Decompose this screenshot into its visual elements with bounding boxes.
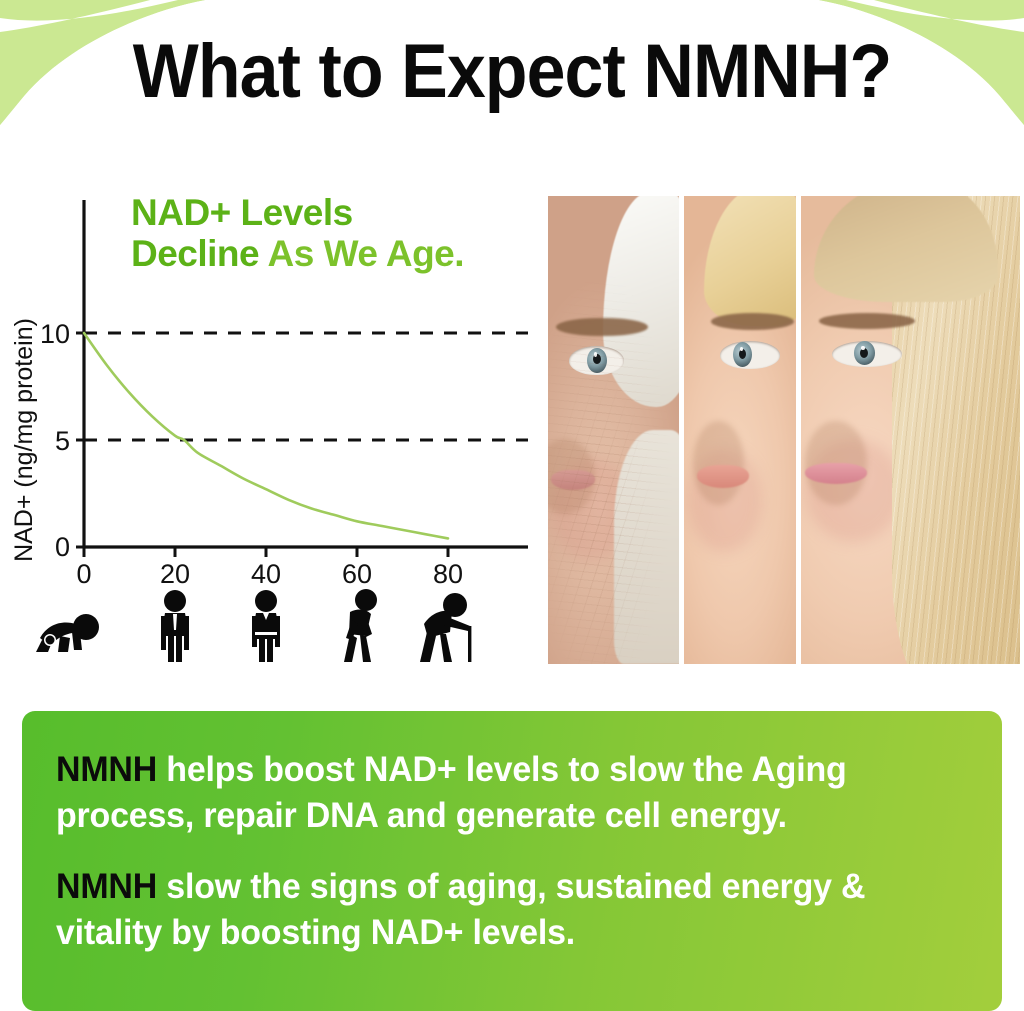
callout-paragraph-1: NMNH helps boost NAD+ levels to slow the… <box>56 747 941 838</box>
elderly-woman-face-panel <box>548 196 679 664</box>
young-adult-figure <box>161 590 189 662</box>
chart-headline-line1: NAD+ Levels <box>131 192 353 233</box>
benefits-callout: NMNH helps boost NAD+ levels to slow the… <box>22 711 1002 1011</box>
callout-paragraph-2: NMNH slow the signs of aging, sustained … <box>56 864 941 955</box>
callout-text-1: helps boost NAD+ levels to slow the Agin… <box>56 750 847 835</box>
chart-headline: NAD+ Levels Decline As We Age. <box>131 193 531 274</box>
y-tick-label-5: 5 <box>55 426 70 456</box>
hunched-elderly-figure <box>344 589 377 662</box>
middle-aged-woman-face-panel <box>684 196 796 664</box>
y-axis-title: NAD+ (ng/mg protein) <box>10 318 38 562</box>
page-title: What to Expect NMNH? <box>41 28 983 115</box>
nad-decline-chart: NAD+ Levels Decline As We Age. 0 5 10 NA… <box>0 185 540 670</box>
nad-decay-curve <box>84 333 448 538</box>
stooped-elderly-with-cane-figure <box>420 593 471 662</box>
y-tick-label-10: 10 <box>40 319 70 349</box>
y-tick-label-0: 0 <box>55 532 70 562</box>
crawling-baby-figure <box>36 614 99 652</box>
aging-pictogram-row <box>0 580 540 665</box>
brand-name-2: NMNH <box>56 867 157 906</box>
middle-aged-adult-figure <box>252 590 280 662</box>
brand-name-1: NMNH <box>56 750 157 789</box>
young-woman-face-panel <box>801 196 1020 664</box>
aging-face-photo-strip <box>548 196 1020 664</box>
chart-headline-line2-b: As We Age. <box>268 233 465 274</box>
callout-text-2: slow the signs of aging, sustained energ… <box>56 867 865 952</box>
chart-headline-line2-a: Decline <box>131 233 268 274</box>
